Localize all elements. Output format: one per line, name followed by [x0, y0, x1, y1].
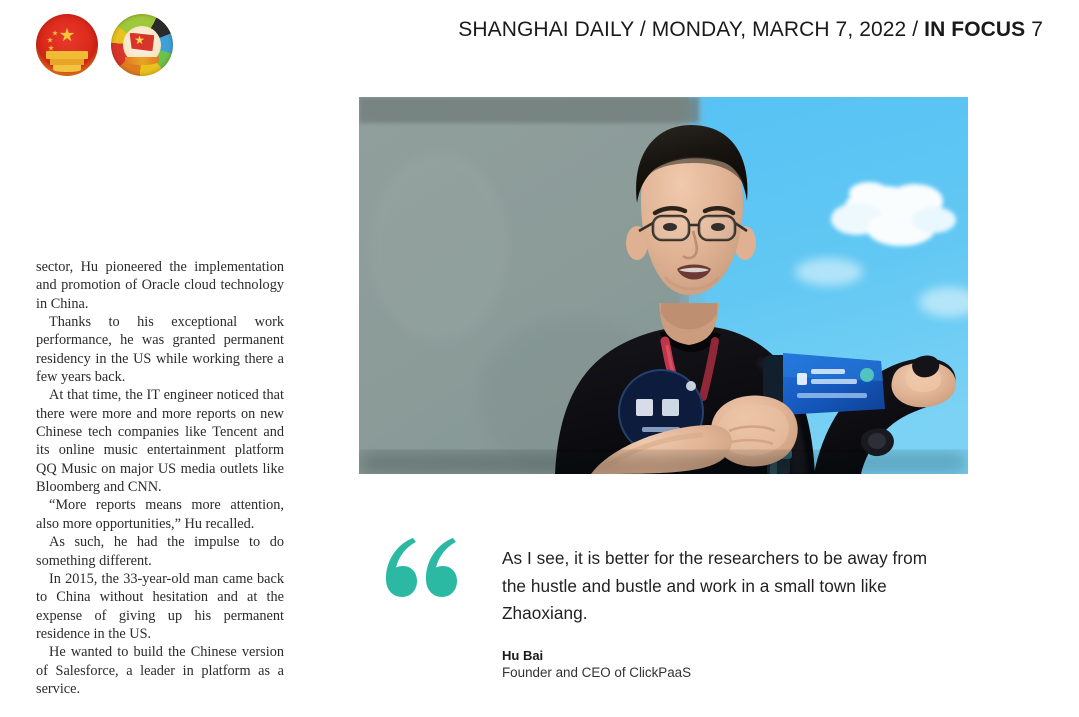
- issue-date: MONDAY, MARCH 7, 2022: [652, 18, 907, 41]
- quote-text: As I see, it is better for the researche…: [502, 545, 942, 628]
- tiananmen-gate-shape: [50, 59, 83, 66]
- article-paragraph: sector, Hu pioneered the implementation …: [36, 258, 284, 313]
- quote-attribution-role: Founder and CEO of ClickPaaS: [502, 664, 942, 682]
- gear-wheat-shape: [53, 65, 82, 71]
- article-paragraph: As such, he had the impulse to do someth…: [36, 533, 284, 570]
- article-paragraph: “More reports means more attention, also…: [36, 496, 284, 533]
- quote-attribution-name: Hu Bai: [502, 647, 942, 664]
- article-paragraph: Thanks to his exceptional work performan…: [36, 313, 284, 386]
- cppcc-ribbon-shape: [125, 57, 160, 65]
- quotation-mark-icon: [383, 536, 459, 598]
- cppcc-emblem: [111, 14, 173, 76]
- publication-name: SHANGHAI DAILY: [458, 18, 634, 41]
- cppcc-flag-shape: [130, 33, 155, 52]
- article-paragraph: In 2015, the 33-year-old man came back t…: [36, 570, 284, 643]
- prc-national-emblem: [36, 14, 98, 76]
- masthead-separator-1: /: [634, 18, 652, 41]
- masthead: SHANGHAI DAILY / MONDAY, MARCH 7, 2022 /…: [0, 0, 1079, 96]
- article-paragraph: At that time, the IT engineer noticed th…: [36, 386, 284, 496]
- emblem-group: [36, 14, 173, 76]
- masthead-header-line: SHANGHAI DAILY / MONDAY, MARCH 7, 2022 /…: [458, 18, 1043, 42]
- quote-attribution: Hu Bai Founder and CEO of ClickPaaS: [502, 647, 942, 682]
- masthead-separator-2: /: [906, 18, 924, 41]
- article-photo: [359, 97, 968, 474]
- section-name: IN FOCUS: [924, 18, 1025, 41]
- photo-illustration: [359, 97, 968, 474]
- article-paragraph: He wanted to build the Chinese version o…: [36, 643, 284, 698]
- article-body-column: sector, Hu pioneered the implementation …: [36, 258, 284, 698]
- quote-body: As I see, it is better for the researche…: [502, 545, 942, 682]
- page-number-value: 7: [1031, 18, 1043, 41]
